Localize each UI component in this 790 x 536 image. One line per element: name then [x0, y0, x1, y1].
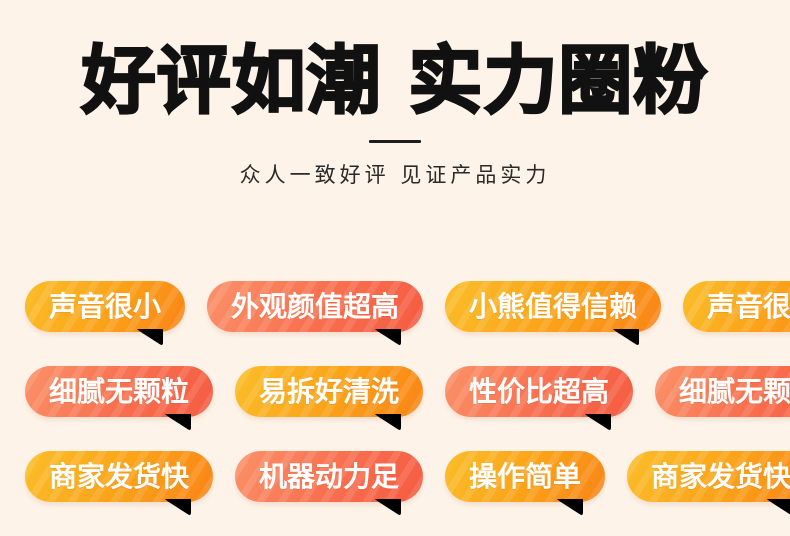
- page-header: 好评如潮 实力圈粉 众人一致好评 见证产品实力: [0, 0, 790, 188]
- speech-bubble-tail-icon: [767, 499, 790, 516]
- promo-page: 好评如潮 实力圈粉 众人一致好评 见证产品实力 声音很小外观颜值超高小熊值得信赖…: [0, 0, 790, 530]
- speech-bubble-tail-icon: [613, 329, 639, 346]
- review-tag-bubble[interactable]: 性价比超高: [445, 366, 633, 417]
- review-tag-bubble[interactable]: 细腻无颗粒: [25, 366, 213, 417]
- review-tag-grid: 声音很小外观颜值超高小熊值得信赖声音很小细腻无颗粒易拆好清洗性价比超高细腻无颗粒…: [0, 281, 790, 536]
- review-tag-bubble[interactable]: 商家发货快: [627, 451, 790, 502]
- review-tag-label: 易拆好清洗: [259, 375, 399, 408]
- review-tag-label: 操作简单: [469, 460, 581, 493]
- review-tag-row: 声音很小外观颜值超高小熊值得信赖声音很小: [0, 281, 790, 366]
- review-tag-label: 商家发货快: [651, 460, 790, 493]
- review-tag-label: 细腻无颗粒: [679, 375, 790, 408]
- review-tag-bubble[interactable]: 操作简单: [445, 451, 605, 502]
- page-subtitle: 众人一致好评 见证产品实力: [0, 162, 790, 188]
- review-tag-row: 细腻无颗粒易拆好清洗性价比超高细腻无颗粒: [0, 366, 790, 451]
- speech-bubble-tail-icon: [165, 499, 191, 516]
- title-divider: [369, 140, 421, 143]
- review-tag-label: 商家发货快: [49, 460, 189, 493]
- review-tag-label: 性价比超高: [469, 375, 609, 408]
- review-tag-label: 机器动力足: [259, 460, 399, 493]
- review-tag-bubble[interactable]: 声音很小: [683, 281, 790, 332]
- review-tag-label: 细腻无颗粒: [49, 375, 189, 408]
- speech-bubble-tail-icon: [585, 414, 611, 431]
- speech-bubble-tail-icon: [375, 329, 401, 346]
- review-tag-bubble[interactable]: 易拆好清洗: [235, 366, 423, 417]
- speech-bubble-tail-icon: [375, 499, 401, 516]
- speech-bubble-tail-icon: [375, 414, 401, 431]
- speech-bubble-tail-icon: [137, 329, 163, 346]
- review-tag-bubble[interactable]: 外观颜值超高: [207, 281, 423, 332]
- review-tag-label: 小熊值得信赖: [469, 290, 637, 323]
- review-tag-label: 声音很小: [707, 290, 790, 323]
- review-tag-bubble[interactable]: 声音很小: [25, 281, 185, 332]
- review-tag-bubble[interactable]: 细腻无颗粒: [655, 366, 790, 417]
- review-tag-row: 商家发货快机器动力足操作简单商家发货快: [0, 451, 790, 536]
- review-tag-bubble[interactable]: 商家发货快: [25, 451, 213, 502]
- speech-bubble-tail-icon: [557, 499, 583, 516]
- page-title: 好评如潮 实力圈粉: [0, 0, 790, 122]
- review-tag-bubble[interactable]: 机器动力足: [235, 451, 423, 502]
- review-tag-label: 声音很小: [49, 290, 161, 323]
- speech-bubble-tail-icon: [165, 414, 191, 431]
- review-tag-bubble[interactable]: 小熊值得信赖: [445, 281, 661, 332]
- review-tag-label: 外观颜值超高: [231, 290, 399, 323]
